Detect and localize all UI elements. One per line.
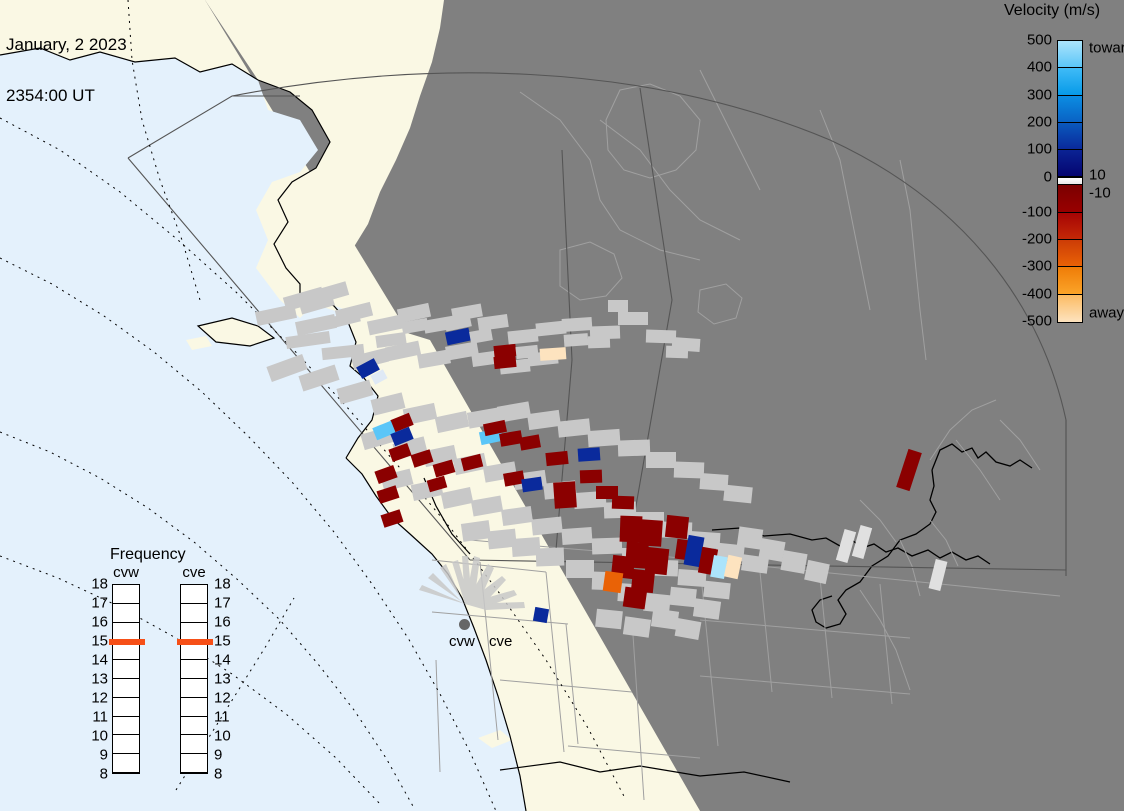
frequency-legend-title: Frequency (110, 546, 186, 564)
frequency-label-cve-13: 13 (214, 671, 231, 688)
velocity-cell (564, 333, 589, 347)
frequency-label-cvw-9: 9 (86, 747, 108, 764)
colorbar-tick--300: -300 (1022, 258, 1052, 275)
frequency-cell (113, 604, 139, 623)
frequency-label-cvw-16: 16 (86, 614, 108, 631)
frequency-cell (113, 660, 139, 679)
colorbar-tick-100: 100 (1027, 141, 1052, 158)
frequency-label-cve-8: 8 (214, 766, 222, 783)
ground-scatter-cell (780, 550, 807, 574)
frequency-label-cve-14: 14 (214, 652, 231, 669)
radar-site-marker (459, 619, 470, 630)
velocity-cell (553, 481, 577, 508)
colorbar-tick--500: -500 (1022, 313, 1052, 330)
frequency-marker-cve (177, 639, 213, 645)
radar-fan-plot-app: cvw cve January, 2 2023 2354:00 UT Veloc… (0, 0, 1124, 811)
frequency-label-cvw-11: 11 (86, 709, 108, 726)
ground-scatter-cell (618, 312, 648, 325)
colorbar-tick--100: -100 (1022, 203, 1052, 220)
frequency-column-name-cve: cve (182, 564, 205, 581)
ground-scatter-cell (566, 560, 594, 578)
site-label-cve: cve (489, 633, 512, 650)
frequency-label-cvw-13: 13 (86, 671, 108, 688)
ground-scatter-cell (674, 461, 705, 478)
velocity-cell (578, 447, 601, 462)
site-label-cvw: cvw (449, 633, 475, 650)
velocity-cell (521, 477, 543, 493)
frequency-label-cvw-14: 14 (86, 652, 108, 669)
colorbar-toward-label: toward (1089, 40, 1124, 57)
frequency-label-cvw-8: 8 (86, 766, 108, 783)
frequency-cell (181, 698, 207, 717)
ground-scatter-cell (646, 329, 676, 343)
velocity-cell (493, 355, 516, 369)
frequency-cell (113, 754, 139, 773)
frequency-cell (181, 585, 207, 604)
ground-scatter-cell (669, 587, 697, 608)
frequency-label-cvw-18: 18 (86, 576, 108, 593)
frequency-cell (181, 604, 207, 623)
frequency-cell (181, 717, 207, 736)
colorbar-tick-400: 400 (1027, 59, 1052, 76)
velocity-cell (608, 300, 628, 312)
frequency-column-cve[interactable]: cve (180, 584, 208, 774)
frequency-label-cve-17: 17 (214, 595, 231, 612)
frequency-label-cvw-12: 12 (86, 690, 108, 707)
colorbar-tick-0: 0 (1044, 168, 1052, 185)
frequency-ladder-cvw[interactable] (112, 584, 140, 774)
colorbar-tick--400: -400 (1022, 285, 1052, 302)
colorbar-away-label: away (1089, 305, 1124, 322)
ground-scatter-cell (531, 516, 563, 535)
ground-scatter-cell (643, 593, 671, 614)
frequency-cell (113, 698, 139, 717)
frequency-cell (113, 735, 139, 754)
timestamp-block: January, 2 2023 2354:00 UT (6, 2, 127, 138)
frequency-ladder-cve[interactable] (180, 584, 208, 774)
frequency-label-cve-15: 15 (214, 633, 231, 650)
ground-scatter-cell (693, 598, 721, 619)
colorbar-title: Velocity (m/s) (1004, 2, 1100, 20)
velocity-cell (666, 346, 688, 359)
ground-scatter-cell (595, 609, 623, 630)
frequency-cell (181, 679, 207, 698)
frequency-column-name-cvw: cvw (113, 564, 139, 581)
colorbar-side-labels: toward10-10away (1057, 40, 1083, 323)
ground-scatter-cell (618, 439, 651, 456)
ground-scatter-cell (561, 527, 592, 545)
frequency-cell (181, 735, 207, 754)
colorbar-pos-threshold-label: 10 (1089, 166, 1106, 183)
frequency-label-cvw-17: 17 (86, 595, 108, 612)
velocity-cell (620, 516, 643, 543)
velocity-cell (588, 336, 610, 349)
velocity-cell (603, 571, 624, 593)
frequency-cell (113, 585, 139, 604)
colorbar-neg-threshold-label: -10 (1089, 184, 1111, 201)
velocity-cell (580, 470, 602, 484)
time-label: 2354:00 UT (6, 87, 127, 104)
ground-scatter-cell (699, 473, 728, 491)
frequency-column-cvw[interactable]: cvw (112, 584, 140, 774)
ground-scatter-cell (592, 537, 623, 554)
frequency-label-cve-16: 16 (214, 614, 231, 631)
frequency-legend-panel: Frequency cvw cve 1817161514131211109818… (96, 546, 236, 786)
ground-scatter-cell (557, 418, 590, 437)
colorbar-tick-300: 300 (1027, 86, 1052, 103)
velocity-cell (665, 515, 689, 539)
frequency-cell (113, 679, 139, 698)
colorbar-tick--200: -200 (1022, 231, 1052, 248)
frequency-cell (181, 754, 207, 773)
frequency-label-cve-11: 11 (214, 709, 230, 726)
frequency-label-cve-10: 10 (214, 728, 231, 745)
ground-scatter-cell (723, 485, 753, 504)
frequency-label-cve-12: 12 (214, 690, 231, 707)
velocity-cell (540, 347, 567, 361)
colorbar-tick-500: 500 (1027, 32, 1052, 49)
velocity-cell (545, 451, 568, 466)
velocity-cell (612, 496, 634, 510)
frequency-cell (181, 660, 207, 679)
frequency-label-cvw-10: 10 (86, 728, 108, 745)
frequency-label-cvw-15: 15 (86, 633, 108, 650)
frequency-cell (113, 717, 139, 736)
ground-scatter-cell (623, 616, 651, 637)
ground-scatter-cell (536, 548, 565, 567)
velocity-cell (515, 345, 538, 359)
ground-scatter-cell (703, 581, 731, 600)
velocity-colorbar-panel: Velocity (m/s) 5004003002001000-100-200-… (986, 0, 1124, 340)
velocity-cell (533, 607, 549, 623)
ground-scatter-cell (587, 429, 620, 447)
date-label: January, 2 2023 (6, 36, 127, 53)
colorbar-tick-200: 200 (1027, 113, 1052, 130)
frequency-label-cve-18: 18 (214, 576, 231, 593)
frequency-marker-cvw (109, 639, 145, 645)
velocity-cell (623, 587, 648, 610)
frequency-label-cve-9: 9 (214, 747, 222, 764)
ground-scatter-cell (646, 452, 676, 468)
